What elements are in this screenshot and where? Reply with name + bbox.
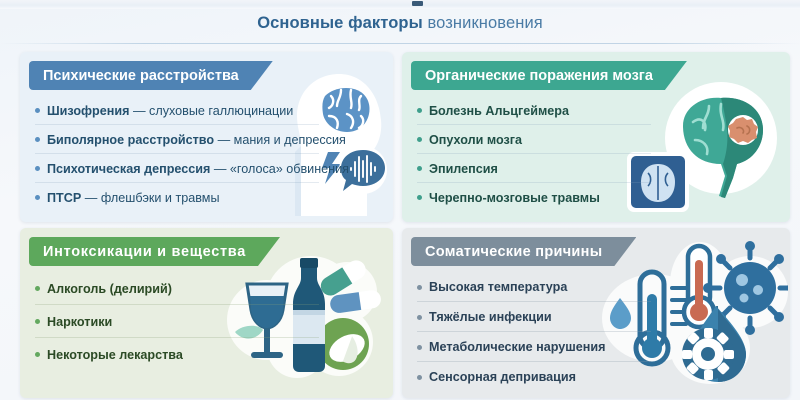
card-intoxication-substances[interactable]: Интоксикации и вещества bbox=[20, 228, 393, 398]
card-list-intoxication: Алкоголь (делирий) Наркотики Некоторые л… bbox=[29, 272, 319, 371]
page-title: Основные факторы возникновения bbox=[0, 14, 800, 33]
brain-icon bbox=[315, 80, 375, 140]
list-item[interactable]: Наркотики bbox=[29, 305, 319, 338]
card-list-psychiatric: Шизофрения — слуховые галлюцинации Бипол… bbox=[29, 96, 319, 212]
list-item-label: Черепно-мозговые травмы bbox=[429, 191, 600, 205]
card-header-organic: Органические поражения мозга bbox=[411, 61, 687, 90]
list-item-label: Тяжёлые инфекции bbox=[429, 310, 552, 324]
thermometer-mercury-icon bbox=[684, 246, 714, 327]
gear-droplet-icon bbox=[682, 306, 746, 382]
list-item[interactable]: Болезнь Альцгеймера bbox=[411, 96, 651, 125]
list-item[interactable]: Эпилепсия bbox=[411, 154, 651, 183]
list-item-label: Высокая температура bbox=[429, 280, 567, 294]
list-item-label: Психотическая депрессия — «голоса» обвин… bbox=[47, 162, 349, 176]
card-somatic-causes[interactable]: Соматические причины bbox=[402, 228, 790, 398]
capsule-icon bbox=[317, 257, 382, 314]
list-item-label: Сенсорная депривация bbox=[429, 370, 576, 384]
list-item-label: Алкоголь (делирий) bbox=[47, 282, 172, 296]
bullet-dot-icon bbox=[417, 285, 422, 290]
bullet-dot-icon bbox=[35, 108, 40, 113]
bullet-dot-icon bbox=[35, 137, 40, 142]
list-item-label: Шизофрения — слуховые галлюцинации bbox=[47, 104, 293, 118]
title-divider bbox=[0, 43, 800, 44]
card-header-psychiatric: Психические расстройства bbox=[29, 61, 273, 90]
list-item[interactable]: Некоторые лекарства bbox=[29, 338, 319, 371]
list-item-label: Опухоли мозга bbox=[429, 133, 522, 147]
bullet-dot-icon bbox=[417, 195, 422, 200]
list-item[interactable]: Психотическая депрессия — «голоса» обвин… bbox=[29, 154, 319, 183]
list-item[interactable]: Метаболические нарушения bbox=[411, 332, 651, 362]
list-item[interactable]: Черепно-мозговые травмы bbox=[411, 183, 651, 212]
bullet-dot-icon bbox=[417, 375, 422, 380]
bullet-dot-icon bbox=[35, 286, 40, 291]
card-organic-brain-damage[interactable]: Органические поражения мозга bbox=[402, 52, 790, 222]
list-item[interactable]: Тяжёлые инфекции bbox=[411, 302, 651, 332]
list-item[interactable]: Шизофрения — слуховые галлюцинации bbox=[29, 96, 319, 125]
card-header-intoxication: Интоксикации и вещества bbox=[29, 237, 280, 266]
virus-icon bbox=[703, 241, 788, 335]
list-item-label: Болезнь Альцгеймера bbox=[429, 104, 569, 118]
page-title-light: возникновения bbox=[428, 14, 543, 32]
list-item-label: Эпилепсия bbox=[429, 162, 498, 176]
list-item-label: Наркотики bbox=[47, 315, 112, 329]
card-list-organic: Болезнь Альцгеймера Опухоли мозга Эпилеп… bbox=[411, 96, 651, 212]
list-item[interactable]: Алкоголь (делирий) bbox=[29, 272, 319, 305]
card-psychiatric-disorders[interactable]: Психические расстройства bbox=[20, 52, 393, 222]
list-item-label: ПТСР — флешбэки и травмы bbox=[47, 191, 220, 205]
bullet-dot-icon bbox=[417, 166, 422, 171]
card-header-somatic: Соматические причины bbox=[411, 237, 636, 266]
bullet-dot-icon bbox=[35, 319, 40, 324]
list-item-label: Метаболические нарушения bbox=[429, 340, 605, 354]
bullet-dot-icon bbox=[35, 352, 40, 357]
list-item[interactable]: ПТСР — флешбэки и травмы bbox=[29, 183, 319, 212]
card-list-somatic: Высокая температура Тяжёлые инфекции Мет… bbox=[411, 272, 651, 392]
page-title-strong: Основные факторы bbox=[257, 14, 423, 32]
brain-tumor-icon bbox=[665, 82, 777, 198]
bullet-dot-icon bbox=[417, 137, 422, 142]
list-item[interactable]: Биполярное расстройство — мания и депрес… bbox=[29, 125, 319, 154]
bullet-dot-icon bbox=[35, 166, 40, 171]
bullet-dot-icon bbox=[35, 195, 40, 200]
bullet-dot-icon bbox=[417, 315, 422, 320]
bullet-dot-icon bbox=[417, 345, 422, 350]
list-item[interactable]: Сенсорная депривация bbox=[411, 362, 651, 392]
list-item-label: Некоторые лекарства bbox=[47, 348, 183, 362]
bullet-dot-icon bbox=[417, 108, 422, 113]
list-item-label: Биполярное расстройство — мания и депрес… bbox=[47, 133, 346, 147]
pills-icon bbox=[317, 318, 369, 370]
list-item[interactable]: Высокая температура bbox=[411, 272, 651, 302]
list-item[interactable]: Опухоли мозга bbox=[411, 125, 651, 154]
top-edge-strip bbox=[0, 0, 800, 9]
